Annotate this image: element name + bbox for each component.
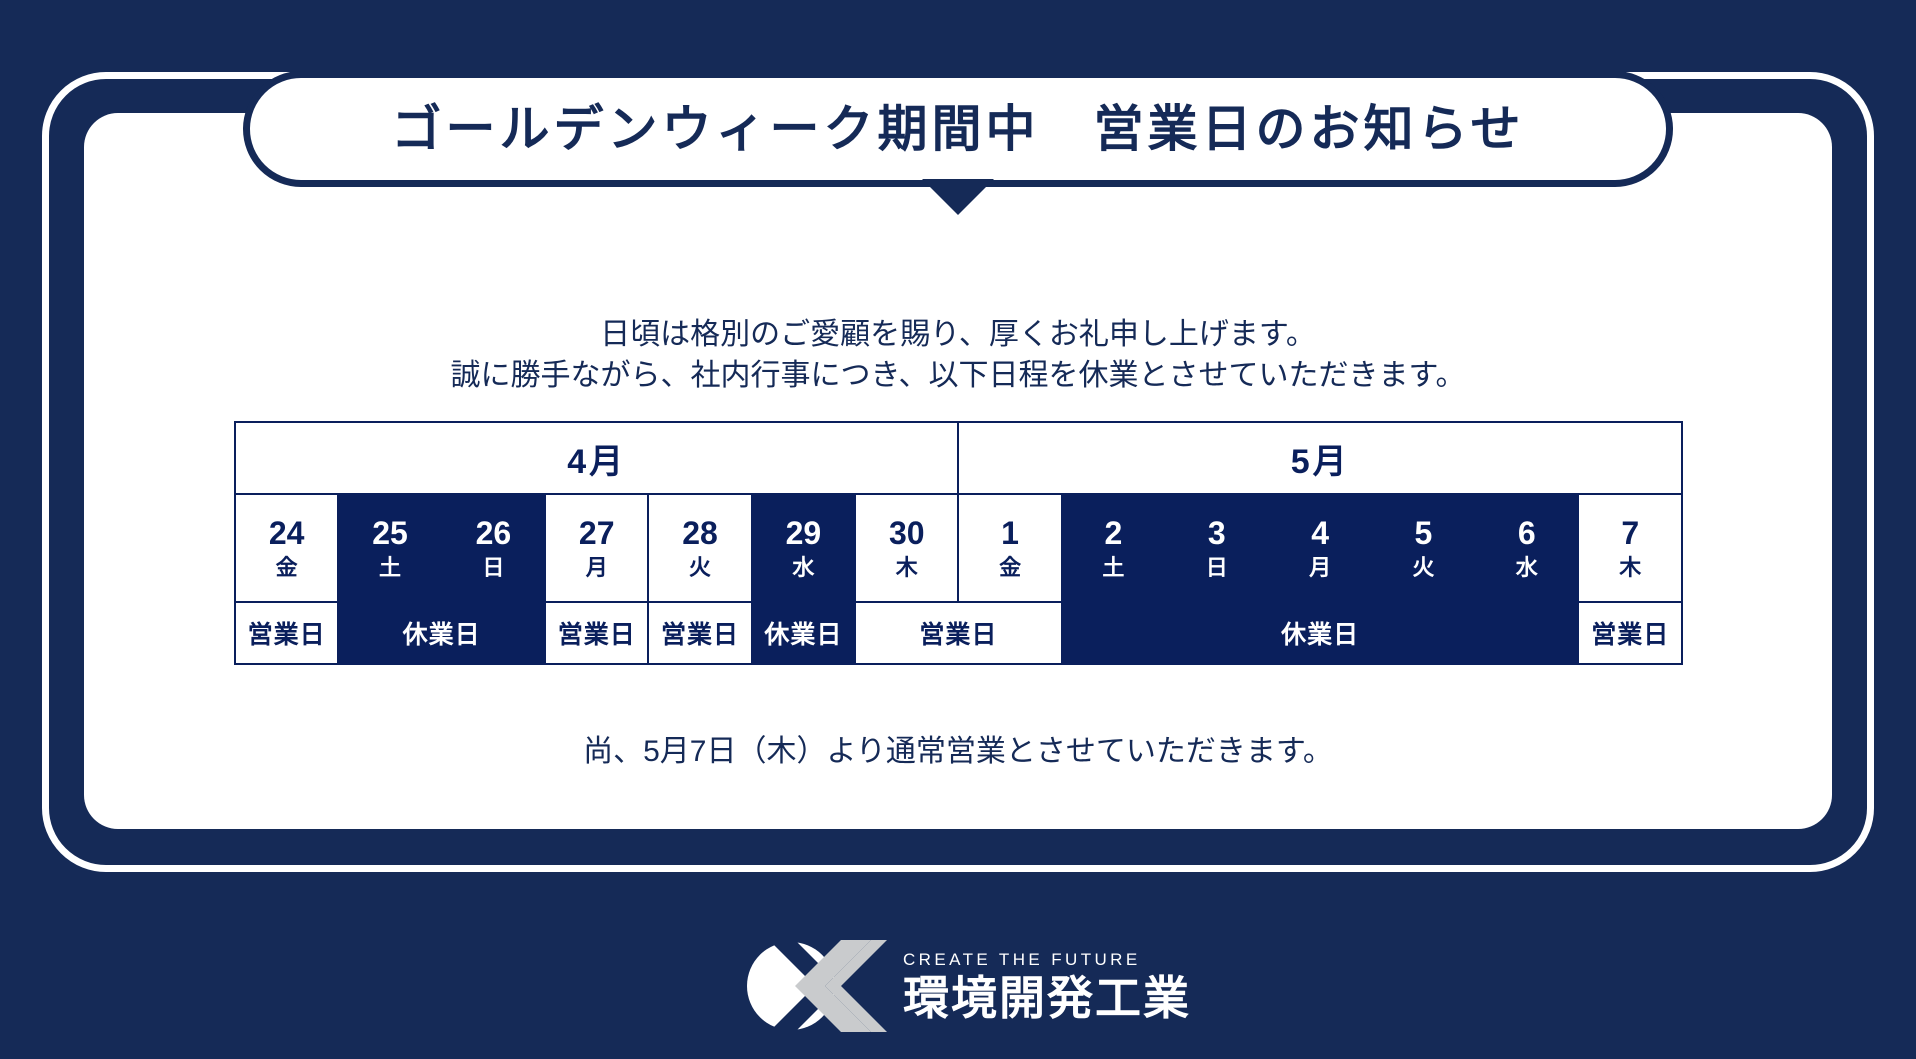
page-title: ゴールデンウィーク期間中 営業日のお知らせ (392, 104, 1525, 154)
calendar-month-header: 4月 (235, 422, 958, 494)
status-cell-closed: 休業日 (1062, 602, 1579, 664)
calendar-day-weekday: 日 (1166, 553, 1267, 583)
intro-line-2: 誠に勝手ながら、社内行事につき、以下日程を休業とさせていただきます。 (84, 355, 1832, 396)
calendar-day-number: 26 (443, 513, 544, 553)
footer-note: 尚、5月7日（木）より通常営業とさせていただきます。 (84, 726, 1832, 770)
calendar-day-weekday: 金 (959, 553, 1060, 583)
status-cell-closed: 休業日 (338, 602, 545, 664)
calendar-day-weekday: 水 (753, 553, 854, 583)
calendar-day-cell: 27月 (545, 494, 648, 602)
intro-line-1: 日頃は格別のご愛顧を賜り、厚くお礼申し上げます。 (84, 314, 1832, 355)
status-cell-closed: 休業日 (752, 602, 855, 664)
calendar-day-weekday: 木 (856, 553, 957, 583)
calendar-day-weekday: 土 (339, 553, 440, 583)
logo-mark-icon (745, 940, 887, 1032)
calendar-day-cell: 1金 (958, 494, 1061, 602)
calendar-day-cell: 2土 (1062, 494, 1165, 602)
calendar-day-number: 30 (856, 513, 957, 553)
calendar-day-number: 7 (1579, 513, 1681, 553)
calendar-day-cell: 3日 (1165, 494, 1268, 602)
logo-wordmark: CREATE THE FUTURE 環境開発工業 (903, 951, 1191, 1021)
calendar-day-number: 28 (649, 513, 750, 553)
calendar-day-cell: 7木 (1578, 494, 1682, 602)
calendar-date-row: 24金25土26日27月28火29水30木1金2土3日4月5火6水7木 (235, 494, 1682, 602)
calendar-day-cell: 4月 (1268, 494, 1371, 602)
title-bubble: ゴールデンウィーク期間中 営業日のお知らせ (243, 71, 1673, 187)
calendar-month-row: 4月5月 (235, 422, 1682, 494)
calendar-day-number: 25 (339, 513, 440, 553)
calendar-day-number: 5 (1373, 513, 1474, 553)
calendar-day-weekday: 火 (1373, 553, 1474, 583)
calendar-day-number: 6 (1476, 513, 1577, 553)
calendar-day-cell: 29水 (752, 494, 855, 602)
calendar-day-cell: 24金 (235, 494, 338, 602)
status-cell-open: 営業日 (1578, 602, 1682, 664)
calendar-day-cell: 30木 (855, 494, 958, 602)
calendar-day-weekday: 土 (1063, 553, 1164, 583)
calendar-day-number: 27 (546, 513, 647, 553)
calendar-day-cell: 26日 (442, 494, 545, 602)
calendar-day-number: 4 (1269, 513, 1370, 553)
title-bubble-tail (922, 179, 994, 215)
calendar-day-number: 3 (1166, 513, 1267, 553)
calendar-day-number: 2 (1063, 513, 1164, 553)
calendar-day-cell: 6水 (1475, 494, 1578, 602)
status-cell-open: 営業日 (855, 602, 1062, 664)
calendar-day-number: 24 (236, 513, 337, 553)
calendar-day-cell: 28火 (648, 494, 751, 602)
status-cell-open: 営業日 (545, 602, 648, 664)
logo-company-name: 環境開発工業 (903, 975, 1191, 1021)
calendar-status-row: 営業日休業日営業日営業日休業日営業日休業日営業日 (235, 602, 1682, 664)
calendar-day-weekday: 金 (236, 553, 337, 583)
calendar-day-number: 1 (959, 513, 1060, 553)
business-day-calendar: 4月5月 24金25土26日27月28火29水30木1金2土3日4月5火6水7木… (234, 421, 1683, 665)
calendar-day-weekday: 月 (1269, 553, 1370, 583)
status-cell-open: 営業日 (648, 602, 751, 664)
logo-tagline: CREATE THE FUTURE (903, 951, 1191, 968)
calendar-day-cell: 5火 (1372, 494, 1475, 602)
calendar-day-weekday: 火 (649, 553, 750, 583)
calendar-day-weekday: 木 (1579, 553, 1681, 583)
company-logo: CREATE THE FUTURE 環境開発工業 (745, 938, 1191, 1034)
status-cell-open: 営業日 (235, 602, 338, 664)
intro-paragraph: 日頃は格別のご愛顧を賜り、厚くお礼申し上げます。 誠に勝手ながら、社内行事につき… (84, 314, 1832, 397)
calendar-day-weekday: 月 (546, 553, 647, 583)
calendar-day-cell: 25土 (338, 494, 441, 602)
calendar-month-header: 5月 (958, 422, 1682, 494)
calendar-day-weekday: 日 (443, 553, 544, 583)
calendar-day-weekday: 水 (1476, 553, 1577, 583)
calendar-day-number: 29 (753, 513, 854, 553)
